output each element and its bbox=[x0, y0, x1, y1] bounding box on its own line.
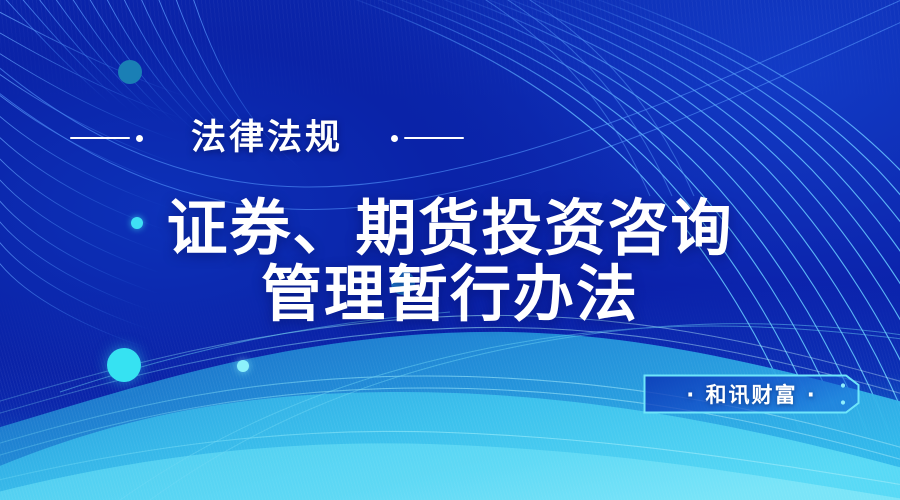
rule-dot-icon bbox=[136, 135, 143, 142]
poster-title: 证券、期货投资咨询 管理暂行办法 bbox=[0, 196, 900, 328]
kicker-row: 法律法规 bbox=[0, 112, 900, 164]
kicker-rule-right bbox=[391, 112, 464, 164]
poster-canvas: 法律法规 证券、期货投资咨询 管理暂行办法 · 和讯财富 · bbox=[0, 0, 900, 500]
rule-dot-icon bbox=[391, 135, 398, 142]
rule-line bbox=[70, 137, 130, 139]
badge-label: · 和讯财富 · bbox=[643, 374, 860, 414]
cyan-dot-bottom-center bbox=[237, 360, 249, 372]
cyan-circle-bottom-left bbox=[107, 348, 141, 382]
teal-circle-top-left bbox=[118, 60, 142, 84]
rule-line bbox=[404, 137, 464, 139]
title-line-1: 证券、期货投资咨询 bbox=[0, 196, 900, 262]
title-line-2: 管理暂行办法 bbox=[0, 262, 900, 328]
kicker-label: 法律法规 bbox=[191, 121, 343, 156]
brand-badge[interactable]: · 和讯财富 · bbox=[643, 374, 860, 414]
kicker-rule-left bbox=[70, 112, 143, 164]
